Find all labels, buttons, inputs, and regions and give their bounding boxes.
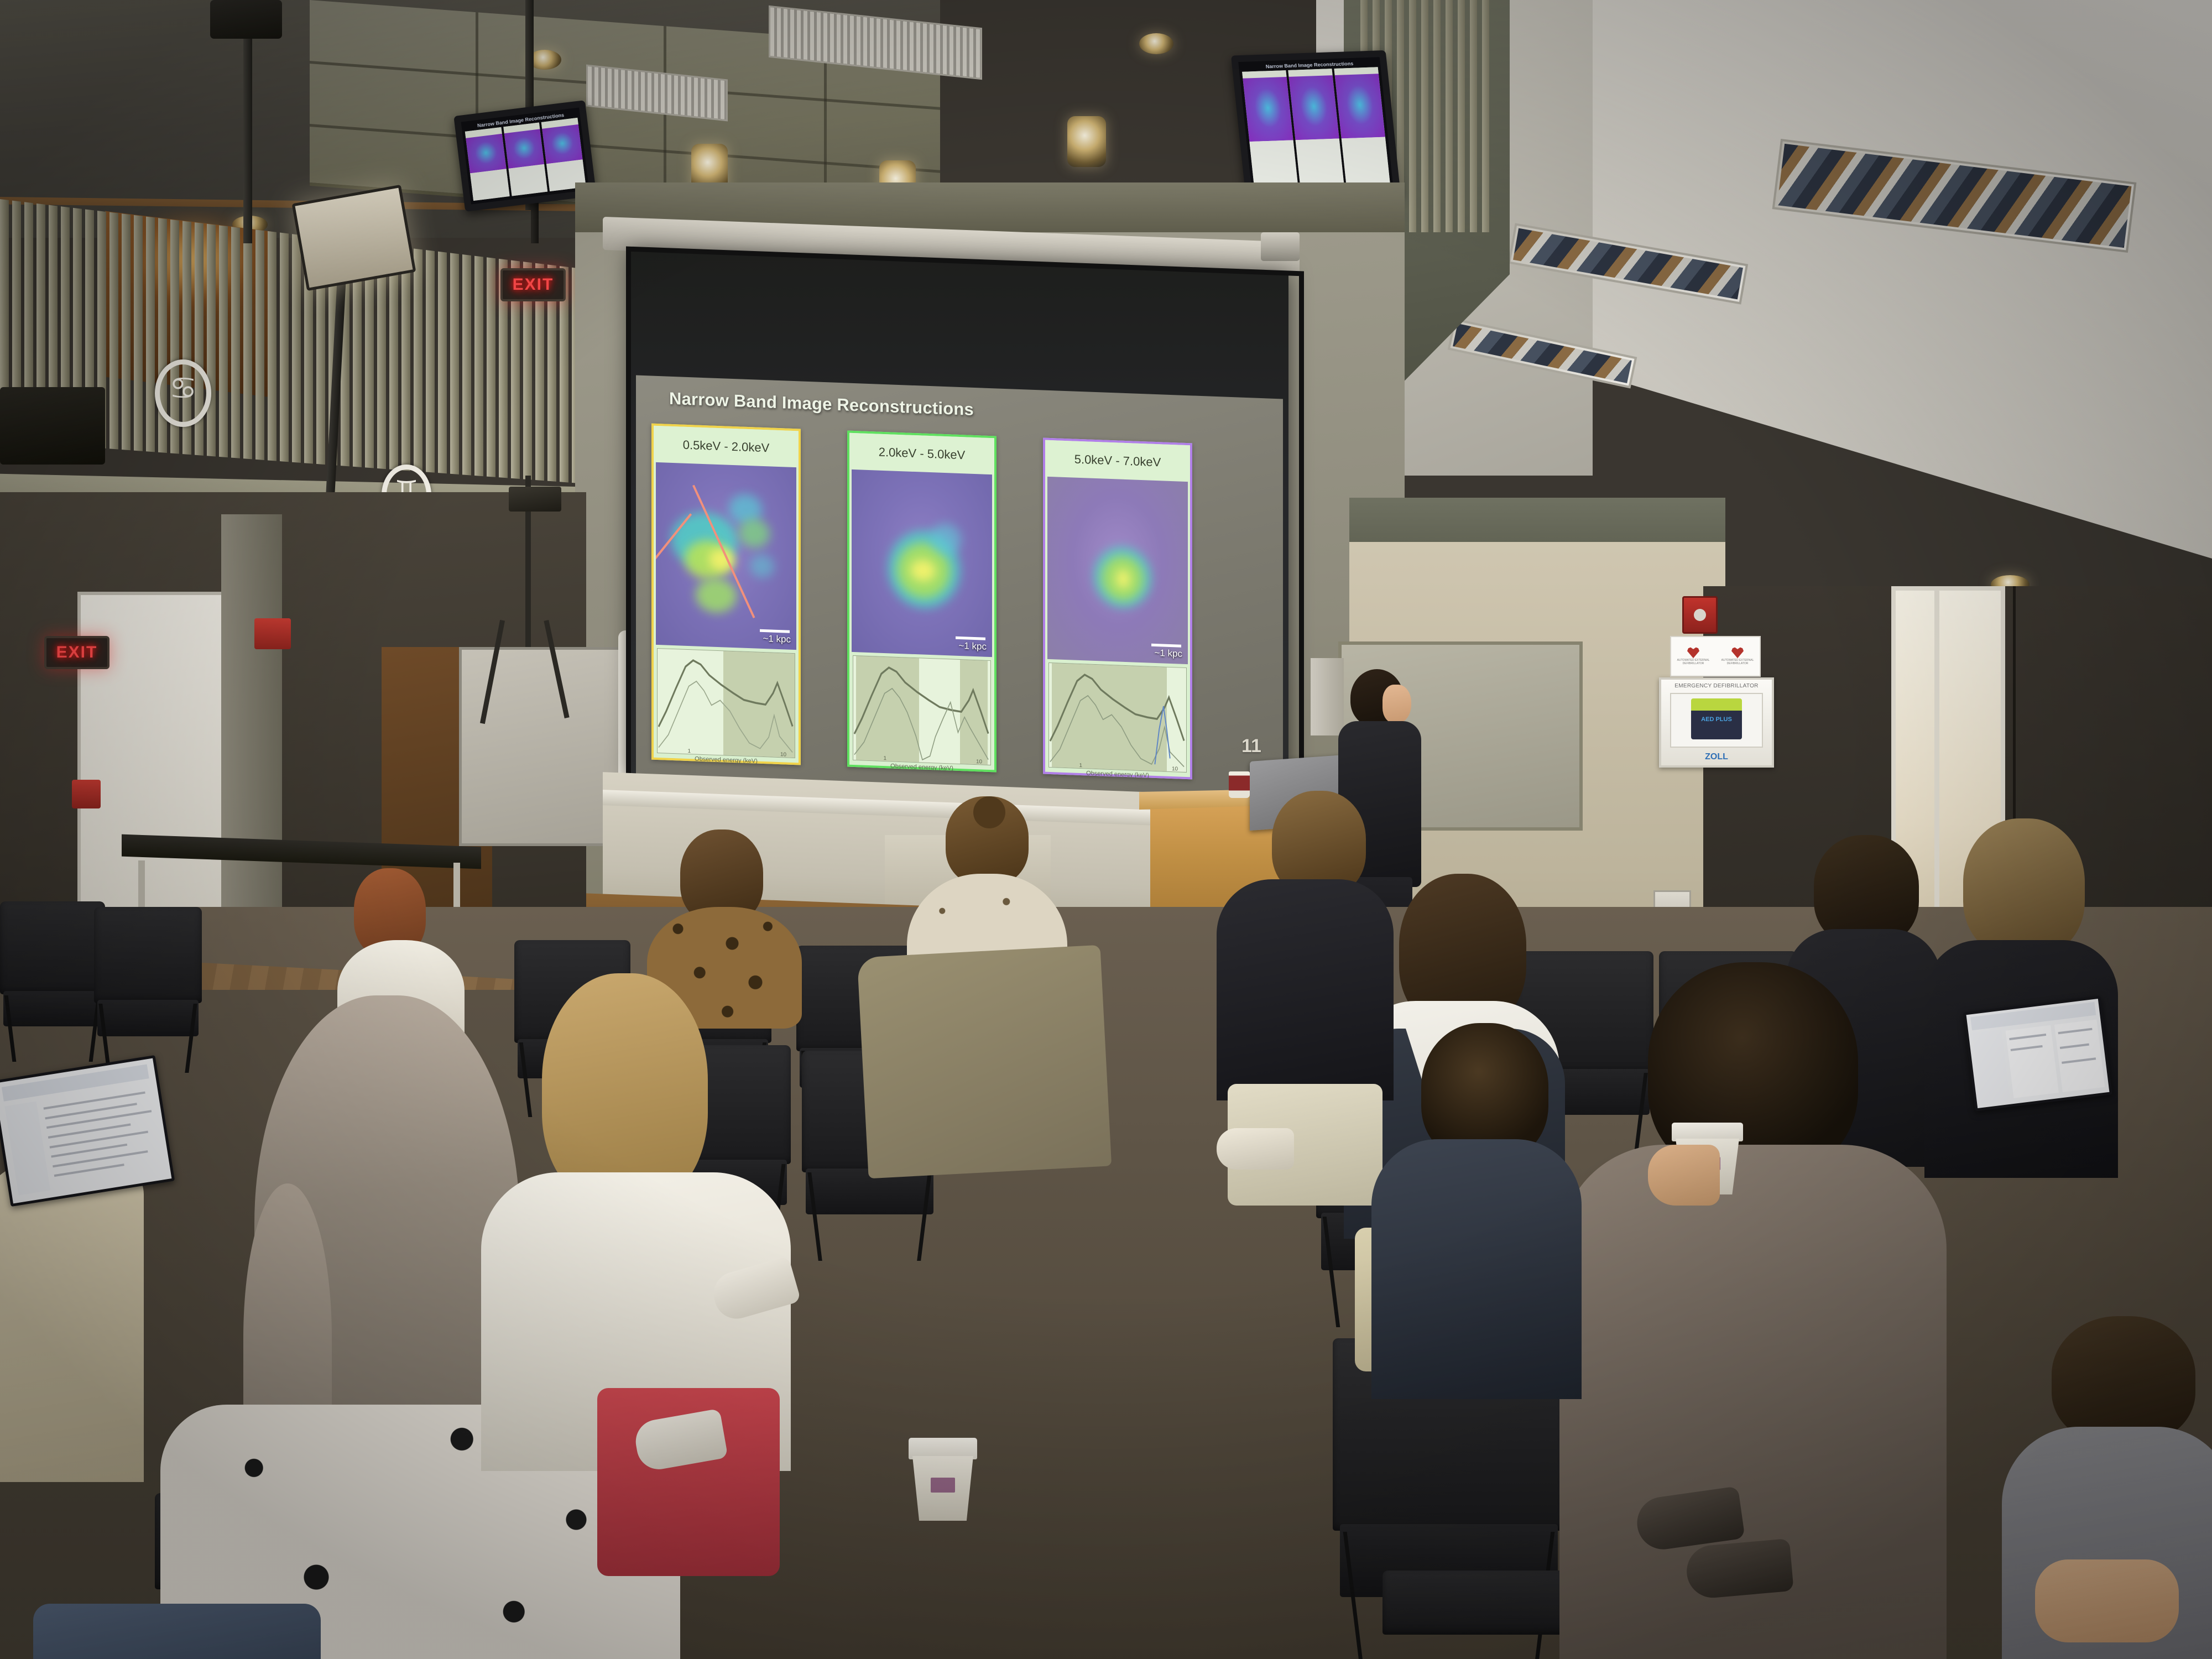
aed-sign-right-text: AUTOMATED EXTERNAL DEFIBRILLATOR — [1715, 659, 1760, 666]
slide-panel-2-tick-2: 10 — [976, 759, 982, 765]
slide-panel-3-scale-label: ~1 kpc — [1154, 648, 1182, 660]
draped-coat — [857, 945, 1112, 1178]
audience-laptop-left-screen — [0, 1058, 171, 1204]
slide-panel-3-tick-1: 1 — [1079, 763, 1083, 769]
audience-8-shoe — [1217, 1128, 1294, 1170]
slide-panel-2: 2.0keV - 5.0keV ~1 kpc 1 — [847, 431, 997, 773]
exit-sign-lower: EXIT — [44, 636, 109, 669]
slide-panel-1-spectrum: 1 10 — [657, 648, 795, 758]
audience-laptop-right[interactable] — [1963, 995, 2112, 1111]
aed-sign-right-half: AUTOMATED EXTERNAL DEFIBRILLATOR — [1715, 637, 1760, 676]
audience-15-jeans — [33, 1604, 321, 1659]
slide-panel-1-tick-1: 1 — [688, 748, 691, 754]
audience-10-hair — [1963, 818, 2085, 957]
audience-member-14 — [1371, 1023, 1582, 1399]
slide-panel-1-label: 0.5keV - 2.0keV — [654, 426, 799, 468]
aed-sign-left-text: AUTOMATED EXTERNAL DEFIBRILLATOR — [1671, 659, 1715, 666]
slide-panel-2-scale-label: ~1 kpc — [958, 640, 987, 653]
slide-title: Narrow Band Image Reconstructions — [669, 389, 974, 420]
aed-heart-icon — [1687, 647, 1699, 658]
aed-sign-left-half: AUTOMATED EXTERNAL DEFIBRILLATOR — [1671, 637, 1715, 676]
audience-laptop-left[interactable] — [0, 1055, 175, 1207]
audience-member-5 — [481, 973, 791, 1471]
whiteboard — [459, 647, 625, 846]
projected-slide: Narrow Band Image Reconstructions 0.5keV… — [636, 375, 1283, 800]
ceiling-monitor-right[interactable]: Narrow Band Image Reconstructions — [1231, 50, 1401, 201]
audience-13-hands — [2035, 1559, 2179, 1642]
slide-panel-3-label: 5.0keV - 7.0keV — [1045, 440, 1190, 482]
audience-laptop-right-screen — [1966, 999, 2110, 1108]
audience-12-hand — [1648, 1145, 1720, 1206]
floor-coffee-cup — [912, 1438, 973, 1521]
presenter-face — [1383, 685, 1411, 723]
exit-sign-lower-text: EXIT — [56, 643, 98, 662]
aed-wall-sign: AUTOMATED EXTERNAL DEFIBRILLATOR AUTOMAT… — [1670, 636, 1761, 677]
floor-cup-logo — [931, 1478, 955, 1493]
aed-cabinet[interactable]: EMERGENCY DEFIBRILLATOR AED PLUS ZOLL — [1659, 677, 1774, 768]
zodiac-symbol-cancer-icon: ♋ — [155, 359, 211, 427]
slide-panel-1: 0.5keV - 2.0keV ~1 kpc — [651, 424, 801, 765]
slide-panel-2-scale-bar — [956, 637, 985, 640]
slide-panel-1-image: ~1 kpc — [656, 462, 796, 650]
slide-panel-1-scale-bar — [760, 629, 790, 633]
audience-3-ponytail — [973, 796, 1005, 828]
aed-heart-icon-2 — [1731, 647, 1744, 658]
fire-alarm-strobe-left — [254, 618, 291, 649]
projection-screen: Narrow Band Image Reconstructions 0.5keV… — [630, 251, 1288, 800]
lecture-hall-scene: ♋ ♊ ♈ EXIT Narrow Band Image Reconstruct… — [0, 0, 2212, 1659]
slide-page-number: 11 — [1241, 735, 1261, 757]
zodiac-cancer-glyph: ♋ — [160, 373, 206, 404]
tripod-head — [509, 487, 561, 512]
ceiling-can-light-2 — [1139, 33, 1173, 54]
slide-panel-3-tick-2: 10 — [1172, 766, 1178, 772]
slide-panel-2-image: ~1 kpc — [852, 469, 992, 657]
audience-5-hair — [542, 973, 708, 1206]
exit-sign-upper: EXIT — [500, 268, 566, 301]
aed-device: AED PLUS — [1691, 698, 1742, 739]
monitor-left-panel-1 — [465, 127, 510, 201]
slide-panel-2-label: 2.0keV - 5.0keV — [849, 433, 994, 475]
audience-6-top — [0, 1161, 144, 1482]
audience-member-15 — [33, 1571, 321, 1659]
aed-cabinet-window: AED PLUS — [1670, 693, 1763, 748]
slide-panel-1-scale-label: ~1 kpc — [763, 633, 791, 645]
aed-cabinet-title: EMERGENCY DEFIBRILLATOR — [1661, 683, 1772, 689]
chair-row-back-1[interactable] — [0, 901, 105, 1062]
monitor-left-panel-3 — [541, 118, 586, 191]
aed-brand-label: ZOLL — [1661, 752, 1772, 762]
monitor-right-panel-3 — [1334, 67, 1390, 187]
slide-panel-3-image: ~1 kpc — [1047, 477, 1188, 664]
slide-panel-2-tick-1: 1 — [884, 755, 887, 761]
slide-panel-1-tick-2: 10 — [780, 752, 786, 758]
wall-projector-box — [0, 387, 105, 465]
exit-sign-upper-text: EXIT — [513, 275, 554, 294]
stage-light-fixture — [292, 185, 416, 291]
audience-shoe-right-2 — [1684, 1538, 1794, 1600]
ceiling-spot-3 — [1067, 116, 1106, 167]
slide-panel-3-spectrum: 1 10 — [1048, 662, 1187, 773]
audience-13-hair — [2052, 1316, 2195, 1443]
ceiling-camera — [210, 0, 282, 39]
aed-device-label: AED PLUS — [1691, 716, 1742, 723]
slide-panel-2-spectrum: 1 10 — [853, 655, 991, 765]
projection-screen-housing-end — [1261, 232, 1300, 261]
fire-alarm-pull-station[interactable] — [1682, 596, 1718, 634]
fire-alarm-strobe-left-2 — [72, 780, 101, 808]
slide-panel-3-scale-bar — [1151, 644, 1181, 648]
slide-panel-3: 5.0keV - 7.0keV ~1 kpc 1 10 — [1043, 438, 1192, 780]
audience-14-top — [1371, 1139, 1582, 1399]
monitor-left-panel-2 — [503, 122, 548, 196]
